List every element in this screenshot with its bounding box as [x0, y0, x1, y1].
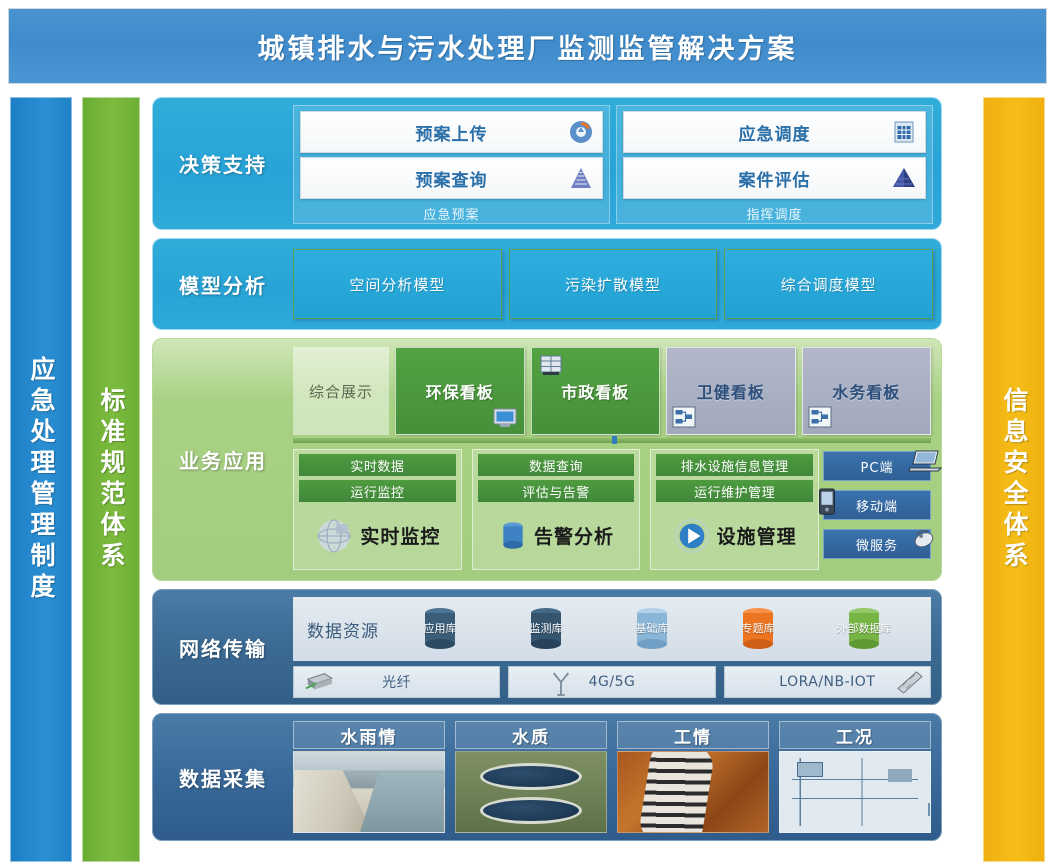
network-link-lora-label: LORA/NB-IOT — [779, 674, 875, 690]
dashboard-card-municipal[interactable]: 市政看板 — [531, 347, 661, 435]
strip-realtime-data[interactable]: 实时数据 — [299, 454, 456, 476]
button-plan-query[interactable]: 预案查询 — [300, 157, 603, 199]
strip-drainage-facility-info[interactable]: 排水设施信息管理 — [656, 454, 813, 476]
dashboard-card-water-affairs-label: 水务看板 — [832, 379, 900, 403]
button-case-assessment-label: 案件评估 — [739, 166, 811, 191]
data-item-hydrology-head: 水雨情 — [293, 721, 445, 749]
feature-facility-management[interactable]: 设施管理 — [656, 506, 813, 565]
database-basic[interactable]: 基础库 — [624, 604, 680, 654]
pillar-standards-system: 标准规范体系 — [82, 97, 140, 862]
database-external[interactable]: 外部数据库 — [836, 604, 892, 654]
device-button-pc-label: PC端 — [861, 457, 894, 476]
layer-data-collection: 数据采集 水雨情 水质 工情 — [152, 713, 942, 841]
data-resources-title: 数据资源 — [307, 617, 379, 642]
layer-decision-support: 决策支持 预案上传 预案查询 — [152, 97, 942, 230]
fiber-cable-icon — [302, 670, 332, 694]
dashboard-card-environment[interactable]: 环保看板 — [395, 347, 525, 435]
business-column-facility: 排水设施信息管理 运行维护管理 设施管理 — [650, 449, 819, 570]
building-icon — [538, 352, 564, 378]
strip-drainage-facility-info-label: 排水设施信息管理 — [681, 456, 789, 475]
network-link-fiber[interactable]: 光纤 — [293, 666, 500, 698]
strip-data-query[interactable]: 数据查询 — [478, 454, 635, 476]
database-thematic[interactable]: 专题库 — [730, 604, 786, 654]
data-item-engineering-status-thumbnail — [617, 751, 769, 833]
business-column-monitoring: 实时数据 运行监控 — [293, 449, 462, 570]
strip-data-query-label: 数据查询 — [529, 456, 583, 475]
decision-group-emergency-plan: 预案上传 预案查询 — [293, 105, 610, 224]
feature-realtime-monitoring[interactable]: 实时监控 — [299, 506, 456, 565]
button-case-assessment[interactable]: 案件评估 — [623, 157, 926, 199]
data-item-operating-condition[interactable]: 工况 — [779, 721, 931, 833]
button-plan-upload[interactable]: 预案上传 — [300, 111, 603, 153]
data-item-hydrology-thumbnail — [293, 751, 445, 833]
model-box-pollution-diffusion[interactable]: 污染扩散模型 — [509, 249, 718, 319]
data-item-operating-condition-thumbnail — [779, 751, 931, 833]
chart-node-icon — [671, 404, 697, 430]
strip-assessment-alarm-label: 评估与告警 — [522, 482, 590, 501]
feature-facility-management-label: 设施管理 — [717, 522, 797, 549]
overview-label: 综合展示 — [309, 381, 373, 402]
dark-pyramid-icon — [891, 165, 917, 191]
layer-model-analysis: 模型分析 空间分析模型 污染扩散模型 综合调度模型 — [152, 238, 942, 330]
layer-data-collection-label: 数据采集 — [153, 714, 293, 840]
decision-group-emergency-plan-caption: 应急预案 — [300, 203, 603, 223]
mouse-device-icon — [908, 526, 936, 548]
button-plan-upload-label: 预案上传 — [416, 120, 488, 145]
network-link-fiber-label: 光纤 — [382, 672, 411, 692]
device-button-microservice-label: 微服务 — [856, 535, 898, 554]
mobile-phone-icon — [816, 488, 844, 510]
page-title-bar: 城镇排水与污水处理厂监测监管解决方案 — [8, 8, 1047, 84]
pillar-emergency-management: 应急处理管理制度 — [10, 97, 72, 862]
button-emergency-dispatch-label: 应急调度 — [739, 120, 811, 145]
data-item-engineering-status-head: 工情 — [617, 721, 769, 749]
overview-label-box: 综合展示 — [293, 347, 389, 435]
data-item-water-quality[interactable]: 水质 — [455, 721, 607, 833]
chart-node-icon — [807, 404, 833, 430]
model-box-pollution-diffusion-label: 污染扩散模型 — [565, 274, 661, 295]
layer-decision-support-label: 决策支持 — [153, 98, 293, 229]
network-link-lora[interactable]: LORA/NB-IOT — [724, 666, 931, 698]
database-application-label: 应用库 — [424, 623, 457, 636]
database-basic-label: 基础库 — [636, 623, 669, 636]
database-cylinder-icon — [498, 518, 528, 554]
network-link-cellular[interactable]: 4G/5G — [508, 666, 715, 698]
button-emergency-dispatch[interactable]: 应急调度 — [623, 111, 926, 153]
monitor-icon — [492, 404, 518, 430]
data-item-engineering-status-label: 工情 — [674, 723, 712, 748]
data-item-water-quality-thumbnail — [455, 751, 607, 833]
database-external-label: 外部数据库 — [837, 623, 892, 636]
data-item-water-quality-head: 水质 — [455, 721, 607, 749]
dashboard-card-health[interactable]: 卫健看板 — [666, 347, 796, 435]
database-thematic-label: 专题库 — [742, 623, 775, 636]
dashboard-card-environment-label: 环保看板 — [426, 379, 494, 403]
layer-model-analysis-label: 模型分析 — [153, 239, 293, 329]
sensor-module-icon — [894, 670, 924, 694]
feature-alarm-analysis-label: 告警分析 — [534, 522, 614, 549]
network-link-cellular-label: 4G/5G — [589, 674, 636, 690]
device-button-mobile[interactable]: 移动端 — [823, 490, 931, 520]
layer-network-transmission: 网络传输 数据资源 应用库 — [152, 589, 942, 705]
model-box-spatial-label: 空间分析模型 — [349, 274, 445, 295]
data-item-operating-condition-head: 工况 — [779, 721, 931, 749]
pillar-information-security: 信息安全体系 — [983, 97, 1045, 862]
pillar-emergency-management-label: 应急处理管理制度 — [23, 356, 59, 604]
page-title: 城镇排水与污水处理厂监测监管解决方案 — [258, 27, 798, 66]
architecture-stack: 决策支持 预案上传 预案查询 — [152, 97, 942, 849]
decision-group-command-dispatch: 应急调度 案件评估 — [616, 105, 933, 224]
business-column-alarm: 数据查询 评估与告警 告警分析 — [472, 449, 641, 570]
layer-business-application: 业务应用 综合展示 环保看板 市政看板 — [152, 338, 942, 581]
model-box-integrated-dispatch-label: 综合调度模型 — [781, 274, 877, 295]
dashboard-card-municipal-label: 市政看板 — [561, 379, 629, 403]
data-item-engineering-status[interactable]: 工情 — [617, 721, 769, 833]
dashboard-card-health-label: 卫健看板 — [697, 379, 765, 403]
strip-operation-monitoring[interactable]: 运行监控 — [299, 480, 456, 502]
strip-operation-maintenance-label: 运行维护管理 — [694, 482, 775, 501]
strip-realtime-data-label: 实时数据 — [350, 456, 404, 475]
button-plan-query-label: 预案查询 — [416, 166, 488, 191]
data-item-hydrology-label: 水雨情 — [341, 723, 398, 748]
strip-operation-monitoring-label: 运行监控 — [350, 482, 404, 501]
data-item-operating-condition-label: 工况 — [836, 723, 874, 748]
device-button-pc[interactable]: PC端 — [823, 451, 931, 481]
device-button-microservice[interactable]: 微服务 — [823, 529, 931, 559]
strip-assessment-alarm[interactable]: 评估与告警 — [478, 480, 635, 502]
laptop-icon — [908, 448, 936, 470]
divider-marker — [612, 436, 617, 444]
pillar-standards-system-label: 标准规范体系 — [93, 387, 129, 573]
play-circle-icon — [673, 517, 711, 555]
data-item-water-quality-label: 水质 — [512, 723, 550, 748]
layer-network-transmission-label: 网络传输 — [153, 590, 293, 704]
recycle-circle-icon — [568, 119, 594, 145]
globe-icon — [314, 516, 354, 556]
layer-business-application-label: 业务应用 — [153, 339, 293, 580]
database-monitoring[interactable]: 监测库 — [518, 604, 574, 654]
pyramid-icon — [568, 165, 594, 191]
business-divider — [293, 438, 931, 443]
dashboard-card-water-affairs[interactable]: 水务看板 — [802, 347, 932, 435]
feature-realtime-monitoring-label: 实时监控 — [360, 522, 440, 549]
model-box-spatial[interactable]: 空间分析模型 — [293, 249, 502, 319]
grid-table-icon — [891, 119, 917, 145]
data-resources-panel: 数据资源 应用库 监测库 — [293, 597, 931, 661]
database-monitoring-label: 监测库 — [530, 623, 563, 636]
device-button-mobile-label: 移动端 — [856, 496, 898, 515]
feature-alarm-analysis[interactable]: 告警分析 — [478, 506, 635, 565]
pillar-information-security-label: 信息安全体系 — [996, 387, 1032, 573]
data-item-hydrology[interactable]: 水雨情 — [293, 721, 445, 833]
strip-operation-maintenance[interactable]: 运行维护管理 — [656, 480, 813, 502]
model-box-integrated-dispatch[interactable]: 综合调度模型 — [724, 249, 933, 319]
database-application[interactable]: 应用库 — [412, 604, 468, 654]
antenna-icon — [550, 670, 580, 694]
decision-group-command-dispatch-caption: 指挥调度 — [623, 203, 926, 223]
